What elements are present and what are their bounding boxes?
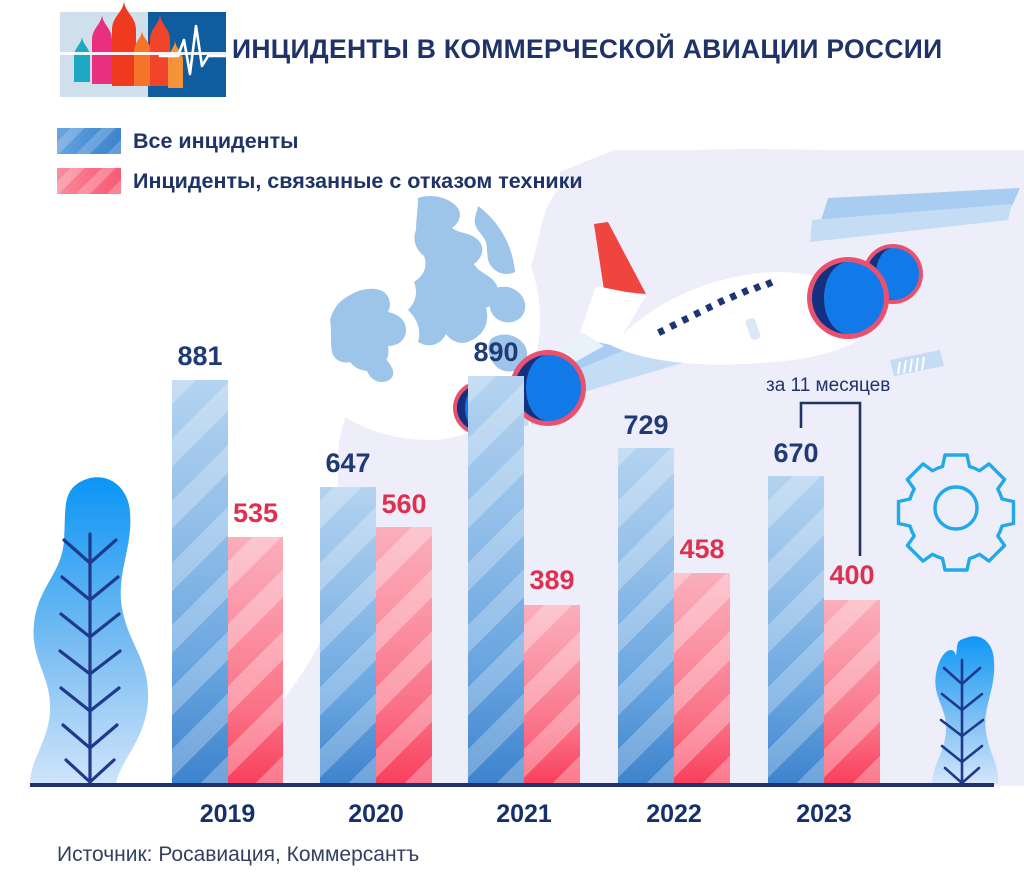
bar-value-2019-technical: 535 xyxy=(228,498,283,529)
bar-2022-technical[interactable] xyxy=(674,573,730,784)
infographic-canvas: ИНЦИДЕНТЫ В КОММЕРЧЕСКОЙ АВИАЦИИ РОССИИ … xyxy=(0,0,1024,893)
bar-chart-plot: 881 535 647 560 890 389 729 458 670 400 xyxy=(0,0,1024,893)
x-axis-label-2023: 2023 xyxy=(768,800,880,829)
bar-2020-technical[interactable] xyxy=(376,527,432,784)
bar-value-2019-all: 881 xyxy=(172,341,228,372)
bar-2019-technical[interactable] xyxy=(228,537,283,784)
annotation-label: за 11 месяцев xyxy=(766,375,890,397)
bar-value-2022-technical: 458 xyxy=(674,534,730,565)
bar-value-2021-technical: 389 xyxy=(524,565,580,596)
x-axis-label-2021: 2021 xyxy=(468,800,580,829)
bar-value-2023-technical: 400 xyxy=(824,560,880,591)
bar-2021-all[interactable] xyxy=(468,376,524,784)
bar-value-2020-all: 647 xyxy=(320,448,376,479)
bar-2019-all[interactable] xyxy=(172,380,228,784)
bar-value-2023-all: 670 xyxy=(768,438,824,469)
bar-2023-technical[interactable] xyxy=(824,600,880,784)
x-axis-label-2019: 2019 xyxy=(172,800,283,829)
source-note: Источник: Росавиация, Коммерсантъ xyxy=(57,843,419,867)
bar-value-2021-all: 890 xyxy=(468,337,524,368)
bar-value-2020-technical: 560 xyxy=(376,489,432,520)
x-axis-label-2022: 2022 xyxy=(618,800,730,829)
bar-value-2022-all: 729 xyxy=(618,410,674,441)
x-axis-label-2020: 2020 xyxy=(320,800,432,829)
bar-2022-all[interactable] xyxy=(618,448,674,784)
bar-2021-technical[interactable] xyxy=(524,605,580,784)
bar-2020-all[interactable] xyxy=(320,487,376,784)
bar-2023-all[interactable] xyxy=(768,476,824,784)
axis-baseline xyxy=(30,783,994,787)
